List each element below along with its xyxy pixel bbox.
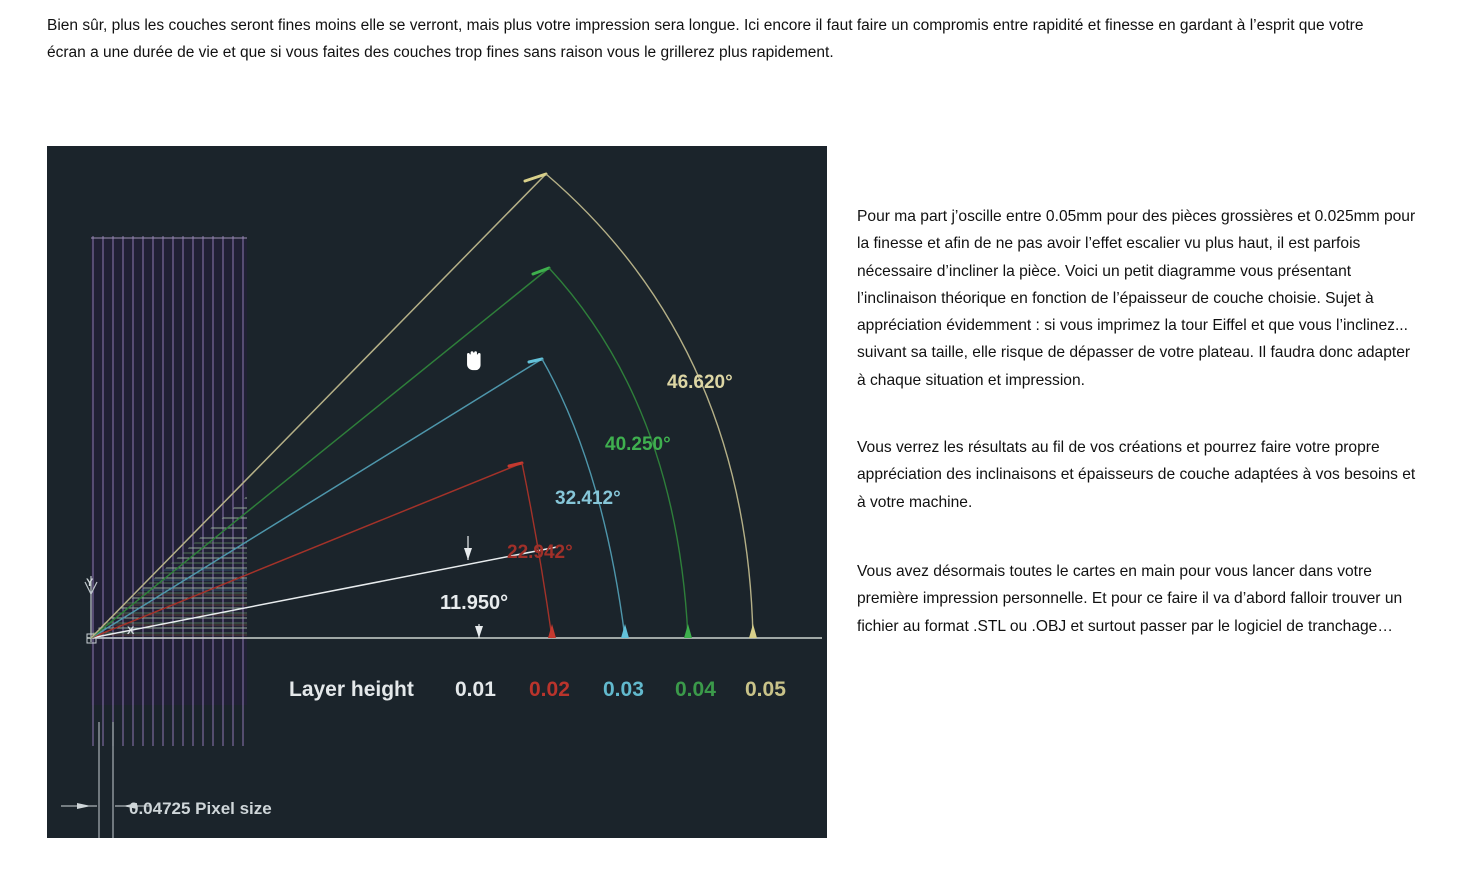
hand-cursor-icon [467, 351, 481, 371]
layer-height-label: Layer height [289, 678, 414, 701]
layer-tick-004: 0.04 [675, 678, 716, 701]
angle-label-40250: 40.250° [605, 434, 671, 455]
pixel-size-label: 0.04725 Pixel size [129, 799, 272, 818]
angle-label-32412: 32.412° [555, 488, 621, 509]
angle-label-22942: 22.942° [507, 542, 573, 563]
angle-label-11950: 11.950° [440, 592, 508, 614]
paragraph-2: Vous verrez les résultats au fil de vos … [857, 434, 1417, 516]
y-axis-label: Y [86, 577, 94, 589]
cad-diagram-image: Y X [47, 146, 827, 838]
layer-tick-001: 0.01 [455, 678, 496, 701]
layer-tick-002: 0.02 [529, 678, 570, 701]
angle-label-46620: 46.620° [667, 372, 733, 393]
right-text-column: Pour ma part j’oscille entre 0.05mm pour… [857, 203, 1417, 640]
paragraph-1: Pour ma part j’oscille entre 0.05mm pour… [857, 203, 1417, 394]
layer-tick-003: 0.03 [603, 678, 644, 701]
hatch-band [91, 236, 247, 746]
paragraph-3: Vous avez désormais toutes le cartes en … [857, 558, 1417, 640]
layer-tick-005: 0.05 [745, 678, 786, 701]
intro-paragraph: Bien sûr, plus les couches seront fines … [47, 12, 1387, 66]
